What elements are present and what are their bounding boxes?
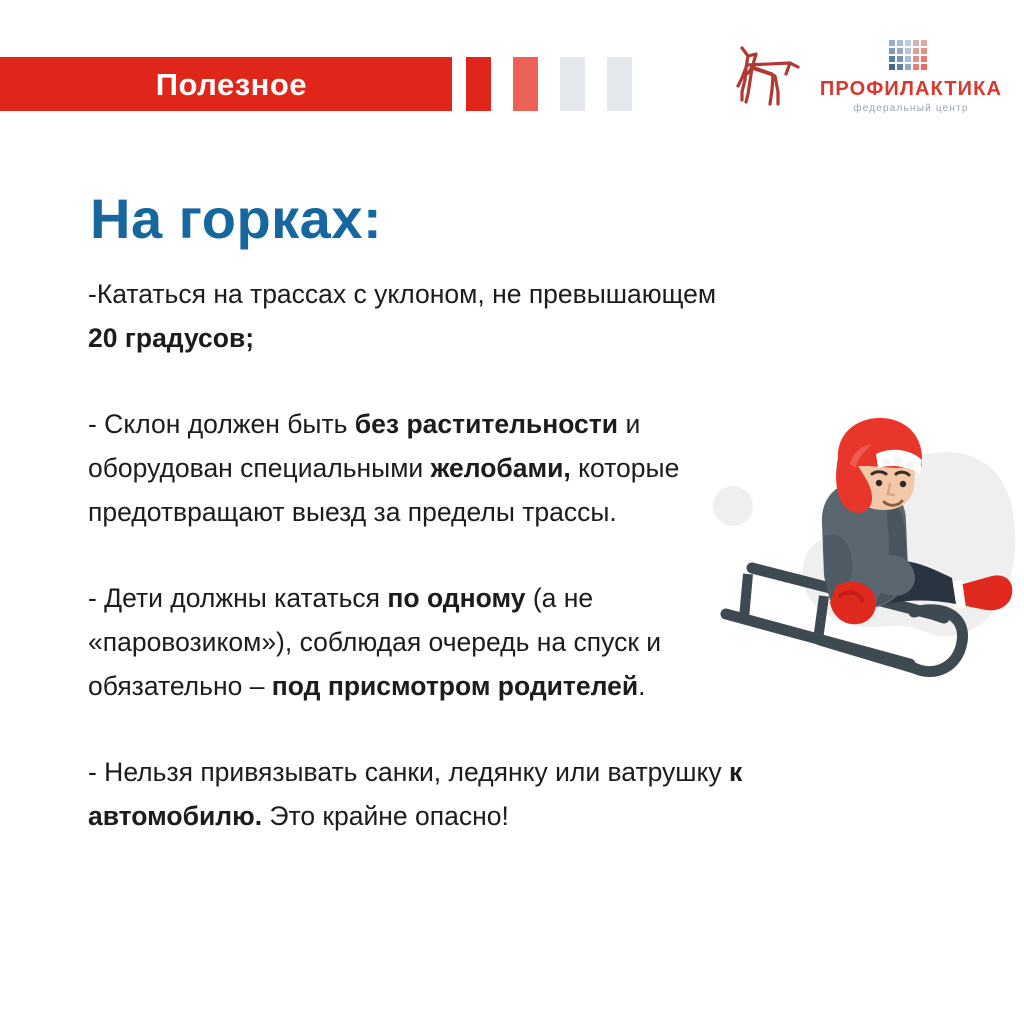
decor-bar-grey-1 [560, 57, 585, 111]
rule-paragraph: - Дети должны кататься по одному (а не «… [88, 576, 748, 708]
decor-bar-grey-2 [607, 57, 632, 111]
category-banner-label: Полезное [156, 69, 307, 100]
infographic-page: Полезное [0, 0, 1024, 1024]
logo-text-block: ПРОФИЛАКТИКА федеральный центр [820, 35, 1002, 114]
boot [950, 575, 1012, 610]
brand-logo: ПРОФИЛАКТИКА федеральный центр [728, 34, 1002, 114]
page-title: На горках: [90, 190, 382, 249]
logo-subtitle: федеральный центр [853, 104, 968, 114]
rule-paragraph: -Кататься на трассах с уклоном, не превы… [88, 272, 748, 360]
decorative-bars [466, 57, 632, 111]
page-header: Полезное [0, 0, 1024, 140]
dot-grid-icon [888, 39, 934, 75]
category-banner: Полезное [0, 57, 452, 111]
rule-paragraph: - Нельзя привязывать санки, ледянку или … [88, 750, 748, 838]
decor-bar-red-light [513, 57, 538, 111]
logo-title: ПРОФИЛАКТИКА [820, 79, 1002, 99]
boy-on-sled-illustration [700, 418, 1024, 728]
rule-paragraph: - Склон должен быть без растительности и… [88, 402, 748, 534]
decor-bar-red-solid [466, 57, 491, 111]
background-dot [713, 486, 753, 526]
rules-list: -Кататься на трассах с уклоном, не превы… [88, 272, 748, 838]
deer-petroglyph-icon [728, 34, 806, 114]
